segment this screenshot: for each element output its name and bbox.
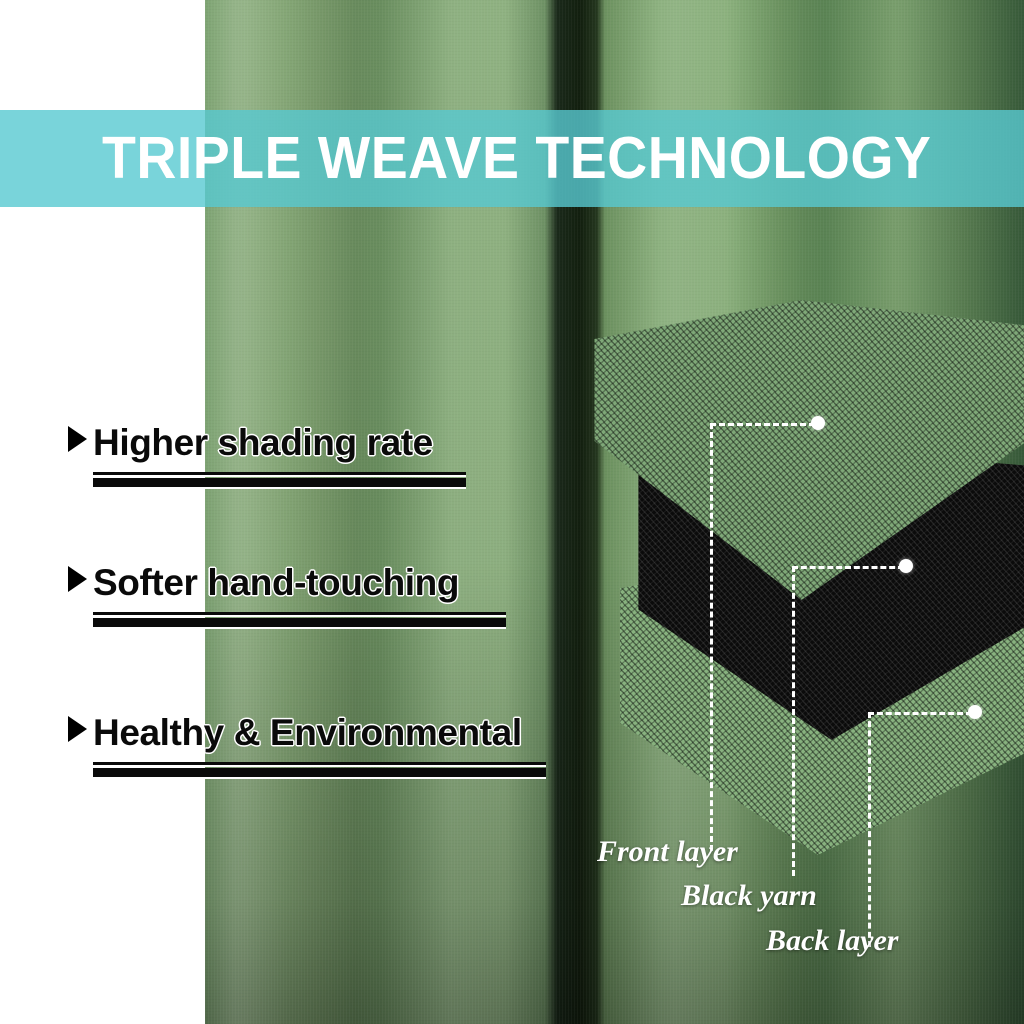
feature-label: Softer hand-touching bbox=[93, 564, 459, 601]
triangle-right-icon bbox=[68, 716, 87, 742]
underline-thick bbox=[93, 478, 466, 489]
feature-underline bbox=[93, 612, 506, 629]
product-feature-image: Front layer Black yarn Back layer TRIPLE… bbox=[0, 0, 1024, 1024]
feature-item-healthy-environmental: Healthy & Environmental bbox=[68, 714, 546, 779]
feature-underline bbox=[93, 762, 546, 779]
feature-list: Higher shading rate Softer hand-touching… bbox=[0, 0, 1024, 1024]
underline-thin bbox=[93, 762, 546, 767]
feature-underline bbox=[93, 472, 466, 489]
feature-item-higher-shading-rate: Higher shading rate bbox=[68, 424, 466, 489]
feature-label: Higher shading rate bbox=[93, 424, 433, 461]
underline-thick bbox=[93, 618, 506, 629]
triangle-right-icon bbox=[68, 566, 87, 592]
feature-label: Healthy & Environmental bbox=[93, 714, 522, 751]
feature-item-softer-hand-touching: Softer hand-touching bbox=[68, 564, 506, 629]
underline-thick bbox=[93, 768, 546, 779]
triangle-right-icon bbox=[68, 426, 87, 452]
underline-thin bbox=[93, 612, 506, 617]
underline-thin bbox=[93, 472, 466, 477]
